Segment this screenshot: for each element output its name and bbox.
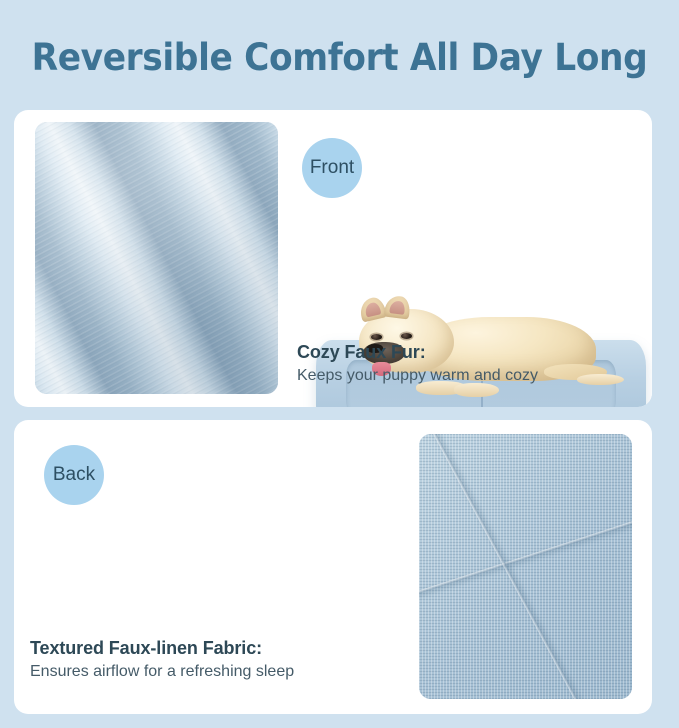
caption-front: Cozy Faux Fur: Keeps your puppy warm and…: [297, 342, 538, 385]
dog-eye-right: [401, 333, 412, 339]
faux-linen-swatch-image: [419, 434, 632, 699]
page-title: Reversible Comfort All Day Long: [24, 36, 655, 79]
caption-front-title: Cozy Faux Fur:: [297, 342, 538, 363]
dog-ear-inner-right: [389, 300, 405, 315]
linen-weave-layer: [419, 434, 632, 699]
caption-front-subtitle: Keeps your puppy warm and cozy: [297, 367, 538, 385]
caption-back-subtitle: Ensures airflow for a refreshing sleep: [30, 663, 294, 681]
dog-ear-inner-left: [364, 302, 381, 318]
badge-back: Back: [44, 445, 104, 505]
dog-ear-left: [358, 296, 387, 323]
card-front: Front: [14, 110, 652, 407]
fur-shading-layer: [35, 122, 278, 394]
dog-eye-left: [371, 334, 382, 340]
faux-fur-swatch-image: [35, 122, 278, 394]
dog-hind-paw: [577, 374, 624, 385]
caption-back-title: Textured Faux-linen Fabric:: [30, 638, 294, 659]
caption-back: Textured Faux-linen Fabric: Ensures airf…: [30, 638, 294, 681]
dog-front-paw-2: [454, 383, 499, 397]
card-back: Back: [14, 420, 652, 714]
dog-ear-right: [384, 295, 411, 320]
badge-front: Front: [302, 138, 362, 198]
